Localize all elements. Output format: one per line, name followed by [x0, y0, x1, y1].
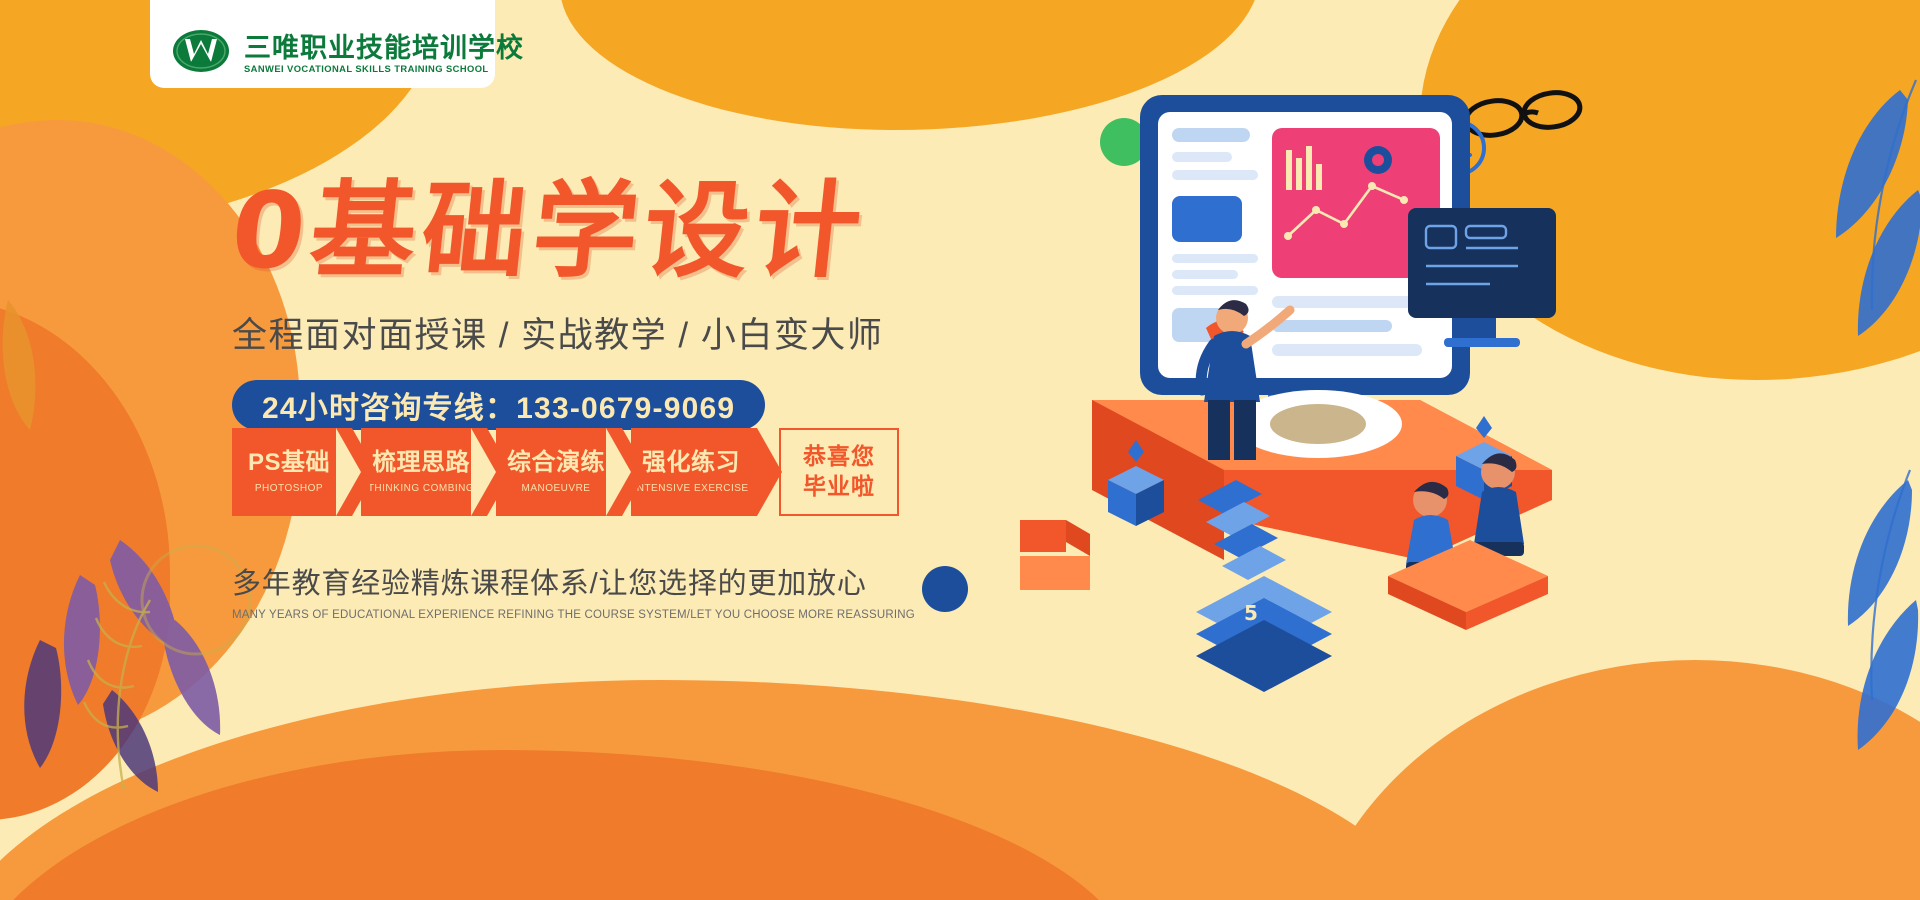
step-item-1[interactable]: PS基础 PHOTOSHOP	[232, 428, 352, 516]
step-item-3[interactable]: 综合演练 MANOEUVRE	[496, 428, 622, 516]
step-item-2[interactable]: 梳理思路 THINKING COMBING	[361, 428, 487, 516]
page-title: 0基础学设计	[226, 178, 977, 285]
hero-illustration: 5	[1000, 0, 1920, 900]
page-subtitle: 全程面对面授课 / 实战教学 / 小白变大师	[232, 307, 972, 358]
step-label-en: MANOEUVRE	[522, 483, 591, 494]
banner-canvas: 5 三唯职业技能培训学校	[0, 0, 1920, 900]
hotline-button[interactable]: 24小时咨询专线：133-0679-9069	[232, 380, 765, 430]
graduation-line-1: 恭喜您	[803, 442, 875, 472]
step-item-4[interactable]: 强化练习 INTENSIVE EXERCISE	[631, 428, 757, 516]
step-label-cn: 强化练习	[642, 450, 740, 476]
svg-text:5: 5	[1244, 601, 1258, 625]
stairs	[1020, 520, 1090, 590]
tagline-en: MANY YEARS OF EDUCATIONAL EXPERIENCE REF…	[232, 609, 992, 621]
headline-block: 0基础学设计 全程面对面授课 / 实战教学 / 小白变大师 24小时咨询专线：1…	[232, 178, 972, 430]
step-item-graduation[interactable]: 恭喜您 毕业啦	[779, 428, 899, 516]
step-label-en: PHOTOSHOP	[255, 483, 323, 494]
school-logo-icon	[172, 28, 230, 74]
logo-name-en: SANWEI VOCATIONAL SKILLS TRAINING SCHOOL	[244, 64, 524, 73]
tagline-block: 多年教育经验精炼课程体系/让您选择的更加放心 MANY YEARS OF EDU…	[232, 560, 992, 621]
logo-block[interactable]: 三唯职业技能培训学校 SANWEI VOCATIONAL SKILLS TRAI…	[150, 0, 495, 88]
step-label-en: INTENSIVE EXERCISE	[633, 483, 748, 494]
step-label-en: THINKING COMBING	[368, 483, 474, 494]
stacked-sheets: 5	[1196, 576, 1332, 692]
step-label-cn: PS基础	[248, 450, 330, 476]
graduation-line-2: 毕业啦	[803, 472, 875, 502]
tagline-cn: 多年教育经验精炼课程体系/让您选择的更加放心	[232, 560, 992, 602]
step-label-cn: 综合演练	[507, 450, 605, 476]
course-steps: PS基础 PHOTOSHOP 梳理思路 THINKING COMBING 综合演…	[232, 428, 899, 516]
logo-name-cn: 三唯职业技能培训学校	[244, 35, 524, 62]
step-label-cn: 梳理思路	[372, 450, 470, 476]
